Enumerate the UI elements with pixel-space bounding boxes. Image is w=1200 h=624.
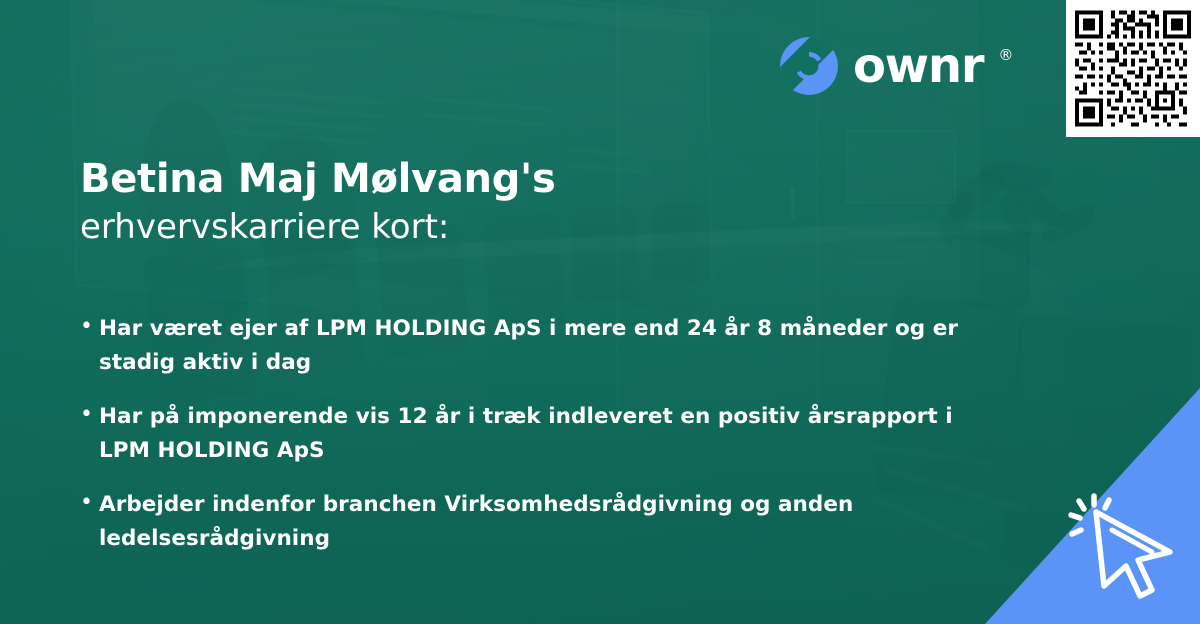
list-item-text: Har været ejer af LPM HOLDING ApS i mere… bbox=[99, 312, 960, 379]
ownr-circle-mark-icon bbox=[779, 36, 839, 96]
list-item-text: Har på imponerende vis 12 år i træk indl… bbox=[99, 400, 960, 467]
qr-code[interactable] bbox=[1066, 0, 1200, 137]
bullet-marker-icon: • bbox=[80, 488, 99, 518]
ownr-wordmark: ownr bbox=[853, 42, 983, 90]
career-facts-list: • Har været ejer af LPM HOLDING ApS i me… bbox=[80, 312, 960, 576]
qr-code-icon bbox=[1075, 9, 1191, 128]
ownr-career-card: ownr ® bbox=[0, 0, 1200, 624]
list-item: • Har været ejer af LPM HOLDING ApS i me… bbox=[80, 312, 960, 379]
subtitle: erhvervskarriere kort: bbox=[80, 206, 556, 249]
list-item-text: Arbejder indenfor branchen Virksomhedsrå… bbox=[99, 488, 960, 555]
registered-trademark-symbol: ® bbox=[998, 48, 1013, 63]
list-item: • Arbejder indenfor branchen Virksomheds… bbox=[80, 488, 960, 555]
corner-triangle bbox=[985, 388, 1200, 624]
click-cursor-icon bbox=[1066, 490, 1186, 610]
ownr-logo[interactable]: ownr ® bbox=[779, 36, 1013, 96]
page-title: Betina Maj Mølvang's erhvervskarriere ko… bbox=[80, 157, 556, 248]
corner-accent bbox=[985, 388, 1200, 624]
bullet-marker-icon: • bbox=[80, 312, 99, 342]
bullet-marker-icon: • bbox=[80, 400, 99, 430]
person-name: Betina Maj Mølvang's bbox=[80, 157, 556, 202]
list-item: • Har på imponerende vis 12 år i træk in… bbox=[80, 400, 960, 467]
